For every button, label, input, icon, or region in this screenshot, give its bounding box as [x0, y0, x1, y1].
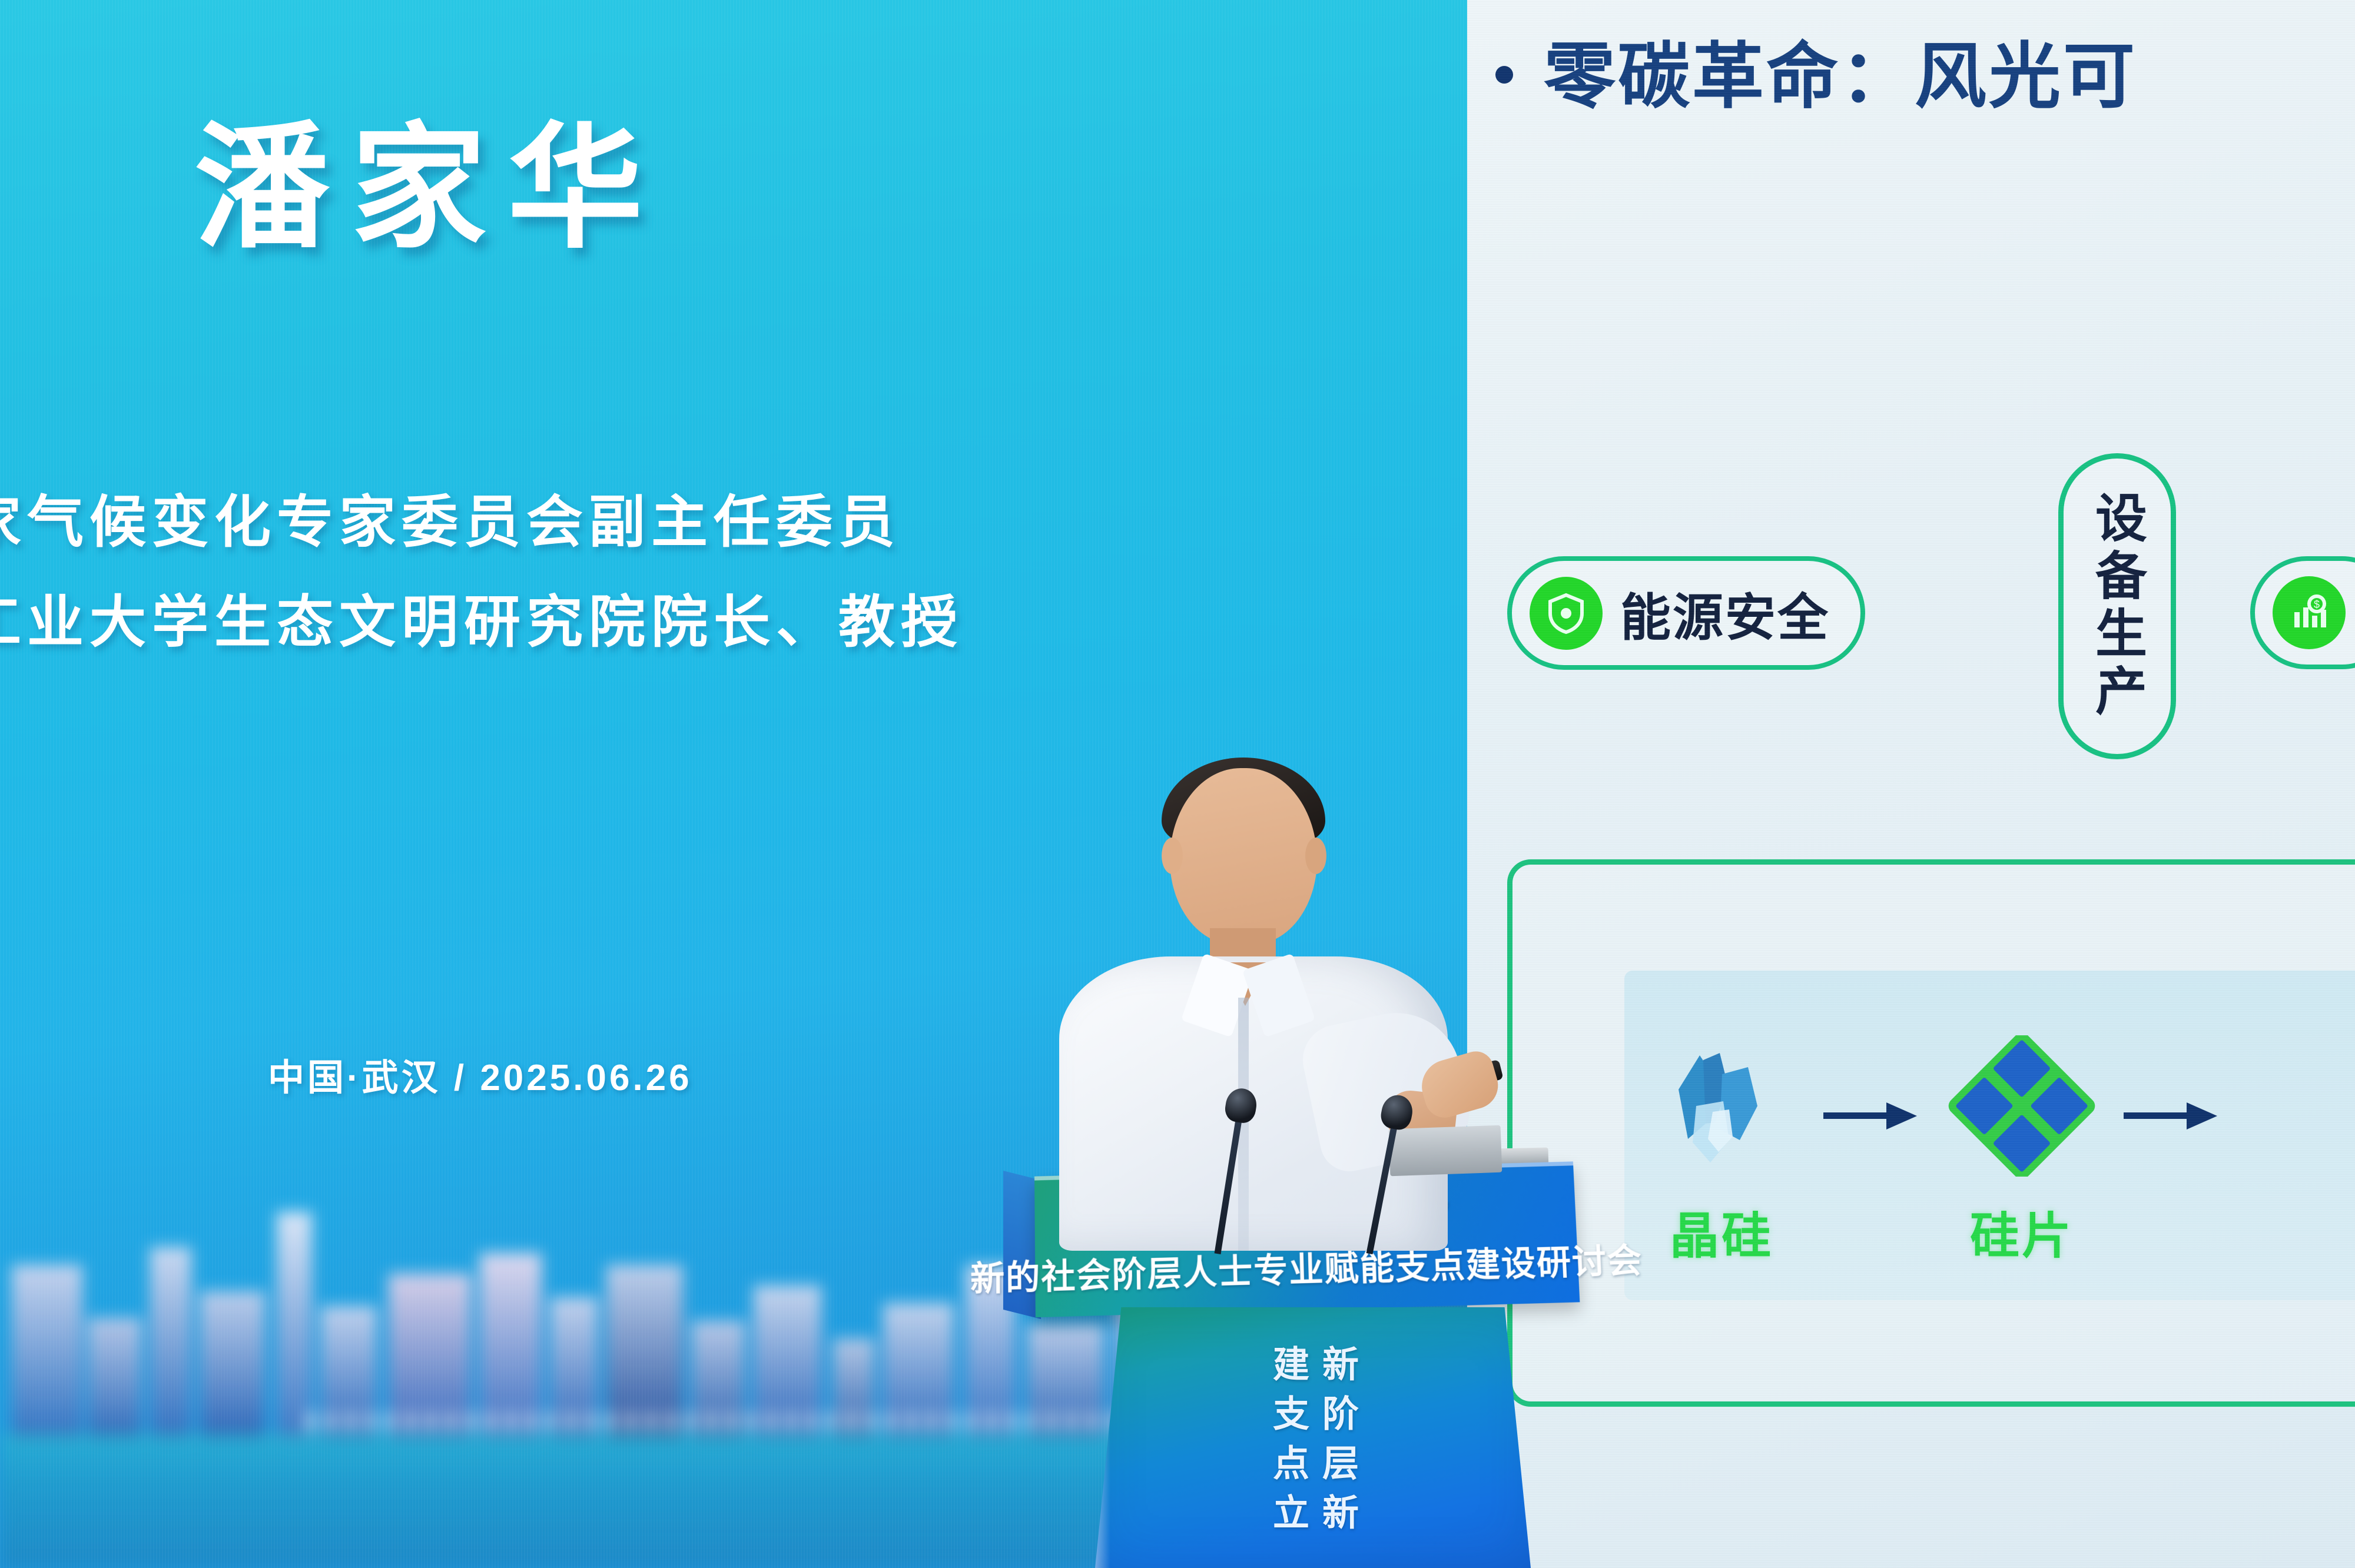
process-arrow-2-icon: [2119, 1097, 2225, 1132]
lectern-vertical-column-right: 新阶层新: [1318, 1345, 1355, 1543]
process-chain-inner: 晶硅 硅片: [1624, 971, 2355, 1300]
badge-third-partial: $: [2250, 556, 2355, 669]
lectern-vertical-column-left: 建支点立: [1269, 1345, 1305, 1543]
speaker-ear-right: [1305, 838, 1326, 874]
process-step-silicon-wafer: 硅片: [1925, 1004, 2119, 1268]
speaker-affiliation-line-1: 家气候变化专家委员会副主任委员: [0, 494, 901, 551]
process-step-silicon-wafer-label: 硅片: [1970, 1197, 2074, 1268]
bar-chart-coin-icon: $: [2273, 576, 2346, 649]
event-location-date: 中国·武汉 / 2025.06.26: [268, 1048, 692, 1101]
svg-text:$: $: [2314, 599, 2320, 610]
speaker-head: [1170, 768, 1317, 945]
slide-bullet-text: 零碳革命：风光可: [1544, 35, 2137, 118]
process-step-crystal-silicon: 晶硅: [1624, 1004, 1819, 1268]
silicon-crystal-icon: [1654, 1035, 1789, 1177]
projection-slide-panel: 零碳革命：风光可 能源安全 设备生产 $: [1467, 0, 2355, 1568]
shield-icon: [1530, 577, 1603, 650]
slide-bullet-row: 零碳革命：风光可: [1495, 35, 2355, 118]
silicon-wafer-icon: [1948, 1035, 2095, 1177]
bullet-dot-icon: [1495, 66, 1513, 84]
speaker-ear-left: [1162, 838, 1183, 874]
process-step-crystal-silicon-label: 晶硅: [1670, 1197, 1773, 1268]
speaker-name: 潘家华: [194, 118, 664, 258]
photo-scene: 潘家华 家气候变化专家委员会副主任委员 工业大学生态文明研究院院长、教授 中国·…: [0, 0, 2355, 1568]
badge-energy-security-label: 能源安全: [1620, 576, 1830, 650]
process-arrow-1-icon: [1819, 1097, 1925, 1132]
laptop-screen: [1389, 1125, 1502, 1177]
speaker-affiliation-line-2: 工业大学生态文明研究院院长、教授: [0, 594, 963, 651]
badge-energy-security: 能源安全: [1507, 556, 1865, 670]
badge-equipment-production: 设备生产: [2058, 453, 2176, 759]
badge-equipment-production-label: 设备生产: [2080, 491, 2155, 722]
process-chain-frame: 晶硅 硅片: [1507, 859, 2355, 1407]
lectern-vertical-slogan: 建支点立 新阶层新: [1269, 1345, 1355, 1543]
